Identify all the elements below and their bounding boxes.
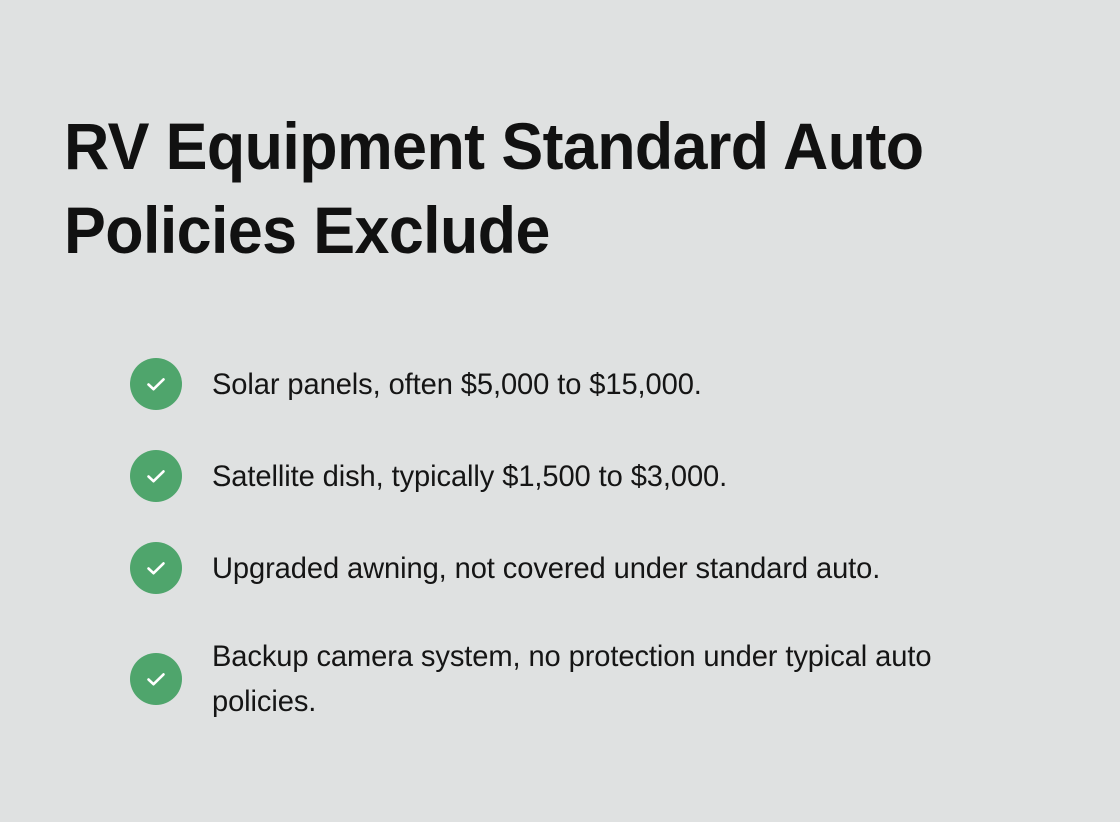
page-title: RV Equipment Standard Auto Policies Excl… (64, 104, 976, 272)
check-icon (130, 542, 182, 594)
check-icon (130, 653, 182, 705)
list-item: Solar panels, often $5,000 to $15,000. (130, 358, 1060, 410)
list-item: Upgraded awning, not covered under stand… (130, 542, 1060, 594)
slide-canvas: RV Equipment Standard Auto Policies Excl… (0, 0, 1120, 822)
list-item-label: Satellite dish, typically $1,500 to $3,0… (212, 454, 727, 499)
check-icon (130, 358, 182, 410)
benefits-checklist: Solar panels, often $5,000 to $15,000. S… (130, 358, 1060, 724)
list-item-label: Backup camera system, no protection unde… (212, 634, 1035, 724)
list-item: Satellite dish, typically $1,500 to $3,0… (130, 450, 1060, 502)
list-item-label: Solar panels, often $5,000 to $15,000. (212, 362, 702, 407)
list-item-label: Upgraded awning, not covered under stand… (212, 546, 880, 591)
list-item: Backup camera system, no protection unde… (130, 634, 1060, 724)
check-icon (130, 450, 182, 502)
